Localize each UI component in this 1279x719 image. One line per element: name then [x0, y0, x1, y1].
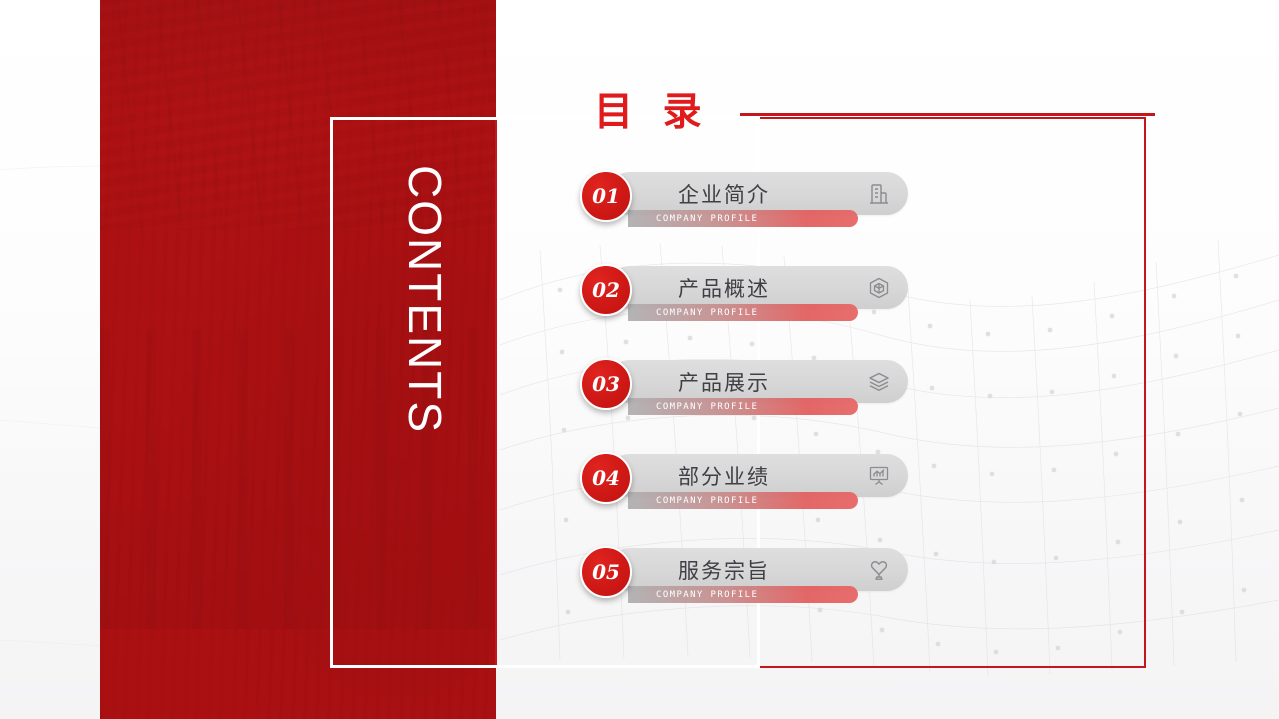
toc-pill[interactable]: 产品展示 — [608, 360, 908, 403]
heart-award-icon — [866, 557, 892, 583]
list-item[interactable]: 产品展示 COMPANY PROFILE 03 — [580, 360, 920, 454]
presentation-chart-icon — [866, 463, 892, 489]
table-of-contents-list: 企业简介 COMPANY PROFILE 01 产品概述 — [580, 172, 920, 642]
toc-number-badge: 05 — [580, 546, 632, 598]
toc-item-label: 产品展示 — [678, 367, 770, 397]
contents-vertical-label: CONTENTS — [402, 165, 448, 434]
toc-number: 02 — [592, 278, 620, 302]
toc-pill[interactable]: 服务宗旨 — [608, 548, 908, 591]
toc-number-badge: 01 — [580, 170, 632, 222]
toc-item-label: 服务宗旨 — [678, 555, 770, 585]
toc-subtitle-bar: COMPANY PROFILE — [628, 492, 858, 509]
toc-item-label: 部分业绩 — [678, 461, 770, 491]
toc-number-badge: 04 — [580, 452, 632, 504]
toc-pill[interactable]: 部分业绩 — [608, 454, 908, 497]
page-title: 目 录 — [594, 93, 710, 132]
list-item[interactable]: 部分业绩 COMPANY PROFILE 04 — [580, 454, 920, 548]
toc-item-subtitle: COMPANY PROFILE — [656, 590, 758, 600]
toc-number: 04 — [592, 466, 620, 490]
toc-subtitle-bar: COMPANY PROFILE — [628, 586, 858, 603]
layers-icon — [866, 369, 892, 395]
building-icon — [866, 181, 892, 207]
toc-item-subtitle: COMPANY PROFILE — [656, 214, 758, 224]
toc-item-label: 企业简介 — [678, 179, 770, 209]
toc-pill[interactable]: 企业简介 — [608, 172, 908, 215]
toc-item-label: 产品概述 — [678, 273, 770, 303]
list-item[interactable]: 产品概述 COMPANY PROFILE 02 — [580, 266, 920, 360]
toc-number: 03 — [592, 372, 620, 396]
title-rule — [740, 113, 1155, 116]
toc-pill[interactable]: 产品概述 — [608, 266, 908, 309]
toc-subtitle-bar: COMPANY PROFILE — [628, 398, 858, 415]
toc-subtitle-bar: COMPANY PROFILE — [628, 304, 858, 321]
page-title-group: 目 录 — [594, 93, 1155, 132]
toc-number-badge: 02 — [580, 264, 632, 316]
toc-item-subtitle: COMPANY PROFILE — [656, 402, 758, 412]
toc-number-badge: 03 — [580, 358, 632, 410]
cube-hexagon-icon — [866, 275, 892, 301]
toc-number: 01 — [592, 184, 620, 208]
toc-item-subtitle: COMPANY PROFILE — [656, 308, 758, 318]
toc-subtitle-bar: COMPANY PROFILE — [628, 210, 858, 227]
list-item[interactable]: 企业简介 COMPANY PROFILE 01 — [580, 172, 920, 266]
toc-item-subtitle: COMPANY PROFILE — [656, 496, 758, 506]
toc-number: 05 — [592, 560, 620, 584]
list-item[interactable]: 服务宗旨 COMPANY PROFILE 05 — [580, 548, 920, 642]
